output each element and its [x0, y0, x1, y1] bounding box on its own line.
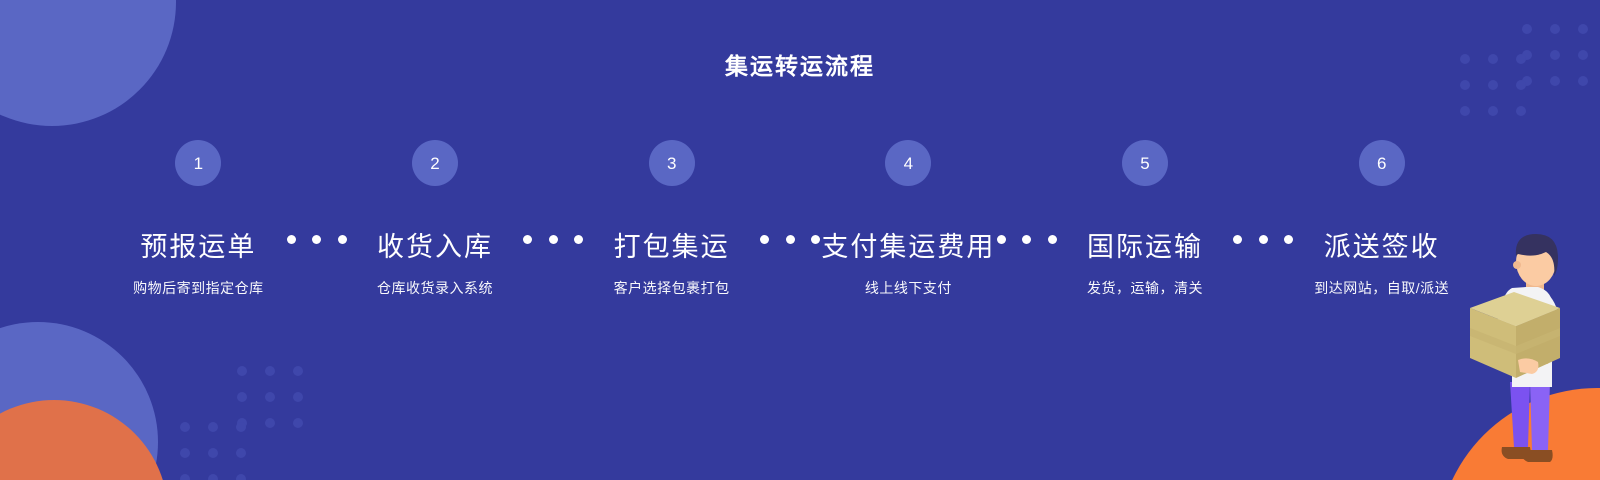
step-number-badge: 3: [649, 140, 695, 186]
slide-canvas: 集运转运流程 1 预报运单 购物后寄到指定仓库 2 收货入库 仓库收货录入系统 …: [0, 0, 1600, 480]
step-title: 派送签收: [1324, 225, 1440, 264]
flow-step-2[interactable]: 2 收货入库 仓库收货录入系统: [317, 140, 554, 298]
step-title: 国际运输: [1087, 225, 1203, 264]
bottom-left-orange-circle-decoration: [0, 400, 168, 480]
page-title: 集运转运流程: [0, 47, 1600, 81]
step-subtitle: 发货，运输，清关: [1087, 278, 1203, 298]
flow-step-4[interactable]: 4 支付集运费用 线上线下支付: [790, 140, 1027, 298]
flow-step-5[interactable]: 5 国际运输 发货，运输，清关: [1027, 140, 1264, 298]
step-title: 预报运单: [140, 225, 256, 264]
step-subtitle: 到达网站，自取/派送: [1314, 278, 1449, 298]
bottom-left-blue-circle-decoration: [0, 322, 158, 480]
flow-step-6[interactable]: 6 派送签收 到达网站，自取/派送: [1263, 140, 1500, 298]
dot-grid-bottom-left-b: [180, 422, 246, 480]
step-subtitle: 线上线下支付: [865, 278, 952, 298]
step-number-badge: 2: [412, 140, 458, 186]
step-subtitle: 仓库收货录入系统: [377, 278, 493, 298]
step-number-badge: 6: [1359, 140, 1405, 186]
step-number-badge: 1: [175, 140, 221, 186]
process-flow: 1 预报运单 购物后寄到指定仓库 2 收货入库 仓库收货录入系统 3 打包集运 …: [80, 140, 1500, 310]
step-number-badge: 5: [1122, 140, 1168, 186]
step-subtitle: 购物后寄到指定仓库: [133, 278, 264, 298]
step-title: 打包集运: [614, 225, 730, 264]
step-subtitle: 客户选择包裹打包: [614, 278, 730, 298]
flow-step-1[interactable]: 1 预报运单 购物后寄到指定仓库: [80, 140, 317, 298]
bottom-right-orange-circle-decoration: [1437, 388, 1600, 480]
step-title: 收货入库: [377, 225, 493, 264]
step-title: 支付集运费用: [821, 225, 995, 264]
flow-step-3[interactable]: 3 打包集运 客户选择包裹打包: [553, 140, 790, 298]
dot-grid-bottom-left-a: [237, 366, 303, 428]
step-number-badge: 4: [885, 140, 931, 186]
